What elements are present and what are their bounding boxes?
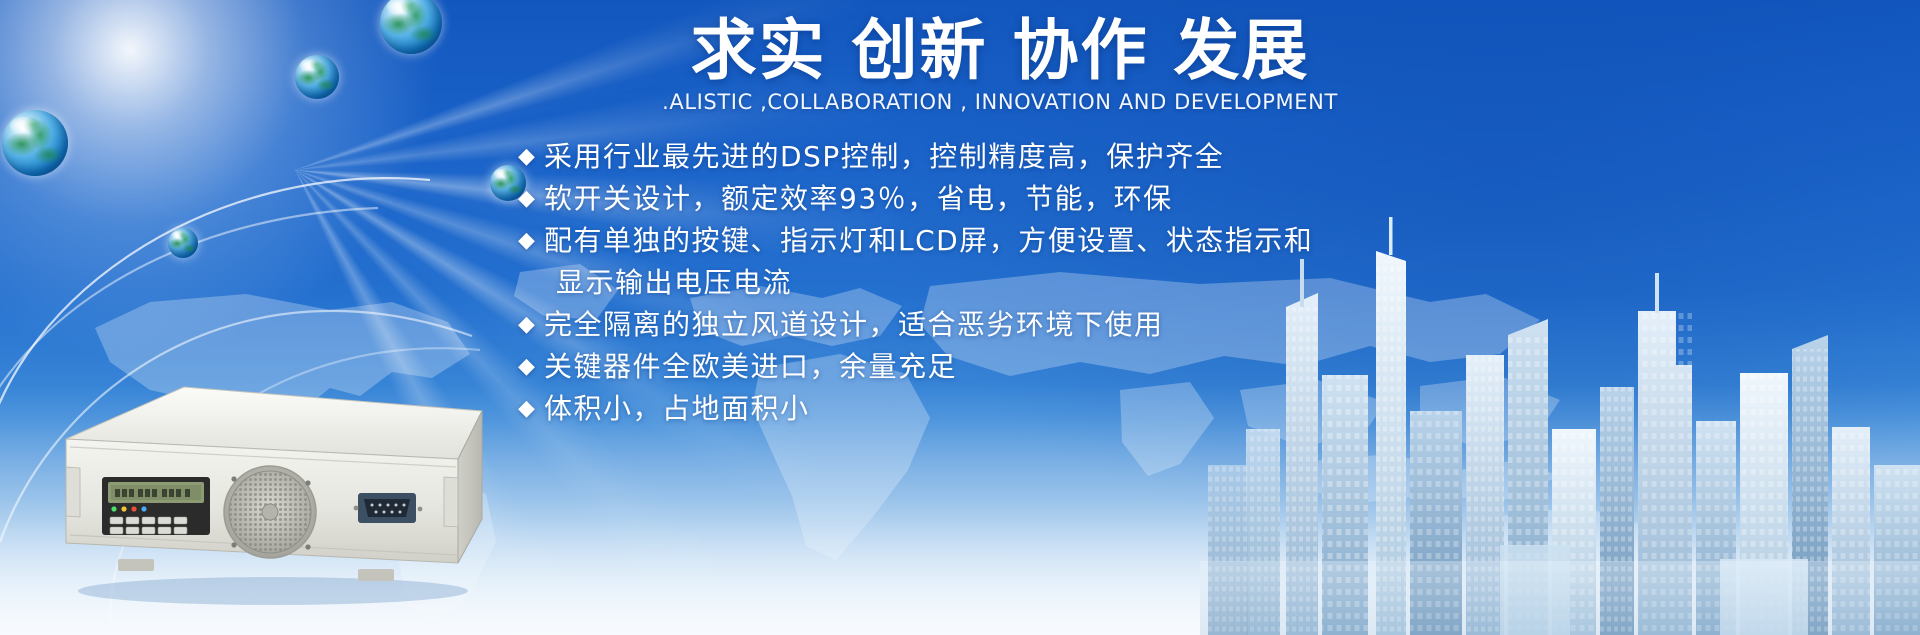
bullet-diamond-icon: ◆ xyxy=(518,304,544,346)
feature-item: ◆ 体积小，占地面积小 xyxy=(518,388,1500,430)
banner-text-block: 求实 创新 协作 发展 .ALISTIC ,COLLABORATION , IN… xyxy=(500,18,1500,430)
feature-text: 配有单独的按键、指示灯和LCD屏，方便设置、状态指示和 xyxy=(544,220,1313,262)
feature-text: 体积小，占地面积小 xyxy=(544,388,810,430)
bullet-diamond-icon: ◆ xyxy=(518,220,544,262)
banner-headline: 求实 创新 协作 发展 xyxy=(500,18,1500,84)
feature-text: 采用行业最先进的DSP控制，控制精度高，保护齐全 xyxy=(544,136,1224,178)
globe-icon xyxy=(380,0,442,54)
bullet-diamond-icon: ◆ xyxy=(518,388,544,430)
bullet-diamond-icon: ◆ xyxy=(518,178,544,220)
feature-text: 完全隔离的独立风道设计，适合恶劣环境下使用 xyxy=(544,304,1164,346)
feature-text: 关键器件全欧美进口，余量充足 xyxy=(544,346,957,388)
bullet-diamond-icon: ◆ xyxy=(518,346,544,388)
feature-item: ◆ 关键器件全欧美进口，余量充足 xyxy=(518,346,1500,388)
feature-text: 软开关设计，额定效率93％，省电，节能，环保 xyxy=(544,178,1173,220)
globe-icon xyxy=(295,55,339,99)
promo-banner: 求实 创新 协作 发展 .ALISTIC ,COLLABORATION , IN… xyxy=(0,0,1920,635)
bullet-diamond-icon: ◆ xyxy=(518,136,544,178)
feature-item: ◆ 完全隔离的独立风道设计，适合恶劣环境下使用 xyxy=(518,304,1500,346)
feature-list: ◆ 采用行业最先进的DSP控制，控制精度高，保护齐全 ◆ 软开关设计，额定效率9… xyxy=(500,136,1500,430)
feature-text: 显示输出电压电流 xyxy=(544,262,792,304)
feature-item-continuation: ◆ 显示输出电压电流 xyxy=(518,262,1500,304)
banner-subheadline: .ALISTIC ,COLLABORATION , INNOVATION AND… xyxy=(500,90,1500,114)
feature-item: ◆ 配有单独的按键、指示灯和LCD屏，方便设置、状态指示和 xyxy=(518,220,1500,262)
feature-item: ◆ 采用行业最先进的DSP控制，控制精度高，保护齐全 xyxy=(518,136,1500,178)
globe-icon xyxy=(168,228,198,258)
globe-icon xyxy=(2,110,68,176)
feature-item: ◆ 软开关设计，额定效率93％，省电，节能，环保 xyxy=(518,178,1500,220)
